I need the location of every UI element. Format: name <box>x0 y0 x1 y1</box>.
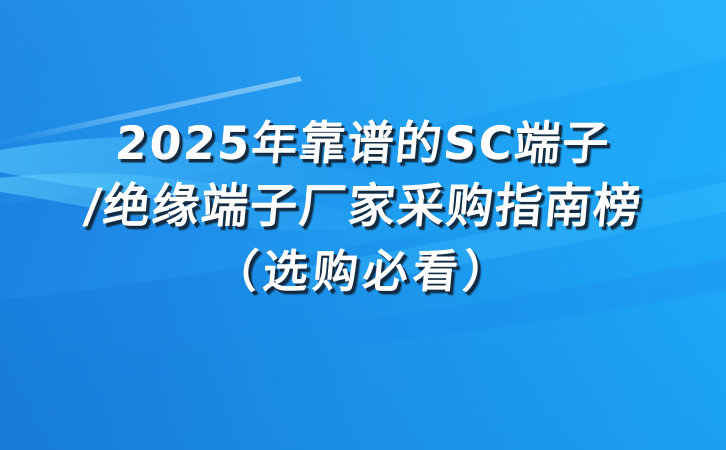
headline-line-1: 2025年靠谱的SC端子 <box>0 112 726 174</box>
promo-banner: 2025年靠谱的SC端子 /绝缘端子厂家采购指南榜 （选购必看） <box>0 0 726 450</box>
headline-line-2: /绝缘端子厂家采购指南榜 <box>0 174 726 240</box>
headline-line-3: （选购必看） <box>0 240 726 304</box>
headline-block: 2025年靠谱的SC端子 /绝缘端子厂家采购指南榜 （选购必看） <box>0 112 726 304</box>
wave-bottom-tint <box>0 290 726 450</box>
